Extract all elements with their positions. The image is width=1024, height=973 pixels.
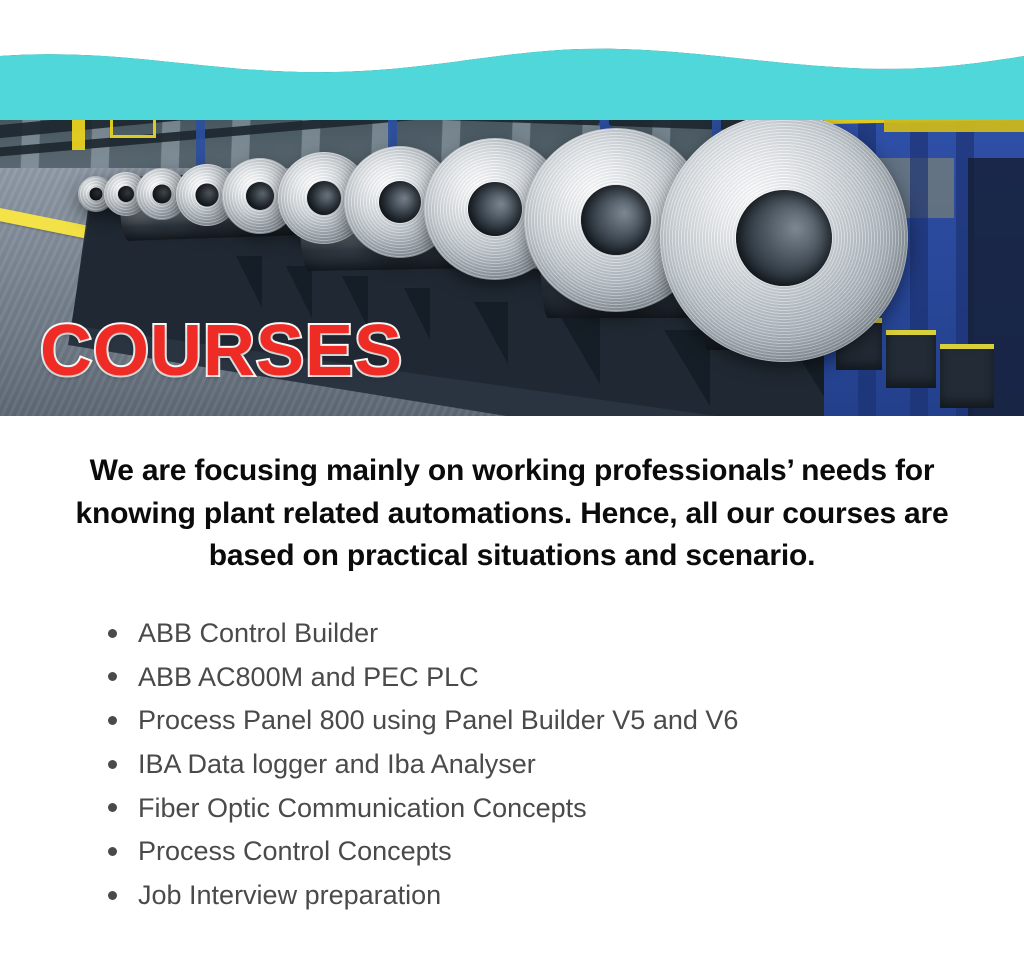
list-item: Fiber Optic Communication Concepts (100, 787, 998, 831)
coil-eye (246, 182, 274, 210)
list-item: IBA Data logger and Iba Analyser (100, 743, 998, 787)
page-title: COURSES (40, 315, 403, 387)
coil-eye (307, 181, 341, 215)
list-item: Process Panel 800 using Panel Builder V5… (100, 699, 998, 743)
steel-coil (660, 114, 908, 362)
bullet-icon (108, 847, 117, 856)
bullet-icon (108, 716, 117, 725)
coil-eye (196, 184, 219, 207)
yellow-crane-cage (110, 110, 156, 138)
course-label: Process Panel 800 using Panel Builder V5… (138, 705, 738, 735)
hero-photo-steel-coils: COURSES (0, 0, 1024, 416)
coil-eye (581, 185, 651, 255)
course-label: Job Interview preparation (138, 880, 441, 910)
coil-eye (90, 188, 103, 201)
bullet-icon (108, 803, 117, 812)
cradle-wedge (474, 302, 508, 364)
course-label: ABB Control Builder (138, 618, 378, 648)
cradle-wedge (664, 330, 710, 406)
courses-page: COURSES We are focusing mainly on workin… (0, 0, 1024, 973)
list-item: Job Interview preparation (100, 874, 998, 918)
coil-saddle (940, 344, 994, 408)
list-item: Process Control Concepts (100, 830, 998, 874)
bullet-icon (108, 760, 117, 769)
hero-banner: COURSES (0, 0, 1024, 416)
content-section: We are focusing mainly on working profes… (0, 416, 1024, 973)
bullet-icon (108, 672, 117, 681)
course-label: Process Control Concepts (138, 836, 452, 866)
course-list: ABB Control Builder ABB AC800M and PEC P… (100, 612, 998, 918)
course-label: IBA Data logger and Iba Analyser (138, 749, 536, 779)
yellow-overhead-beam (884, 118, 1024, 132)
coil-eye (118, 186, 134, 202)
coil-saddle (886, 330, 936, 388)
intro-paragraph: We are focusing mainly on working profes… (32, 450, 992, 578)
coil-eye (153, 185, 172, 204)
coil-eye (736, 190, 832, 286)
coil-eye (379, 181, 421, 223)
bullet-icon (108, 891, 117, 900)
coil-eye (468, 182, 522, 236)
cradle-wedge (404, 288, 430, 340)
cradle-wedge (560, 316, 600, 384)
course-label: ABB AC800M and PEC PLC (138, 662, 479, 692)
yellow-crane-beam (62, 104, 102, 114)
cradle-wedge (236, 256, 262, 308)
course-label: Fiber Optic Communication Concepts (138, 793, 587, 823)
bullet-icon (108, 629, 117, 638)
yellow-crane-hook (72, 108, 85, 150)
list-item: ABB Control Builder (100, 612, 998, 656)
list-item: ABB AC800M and PEC PLC (100, 656, 998, 700)
